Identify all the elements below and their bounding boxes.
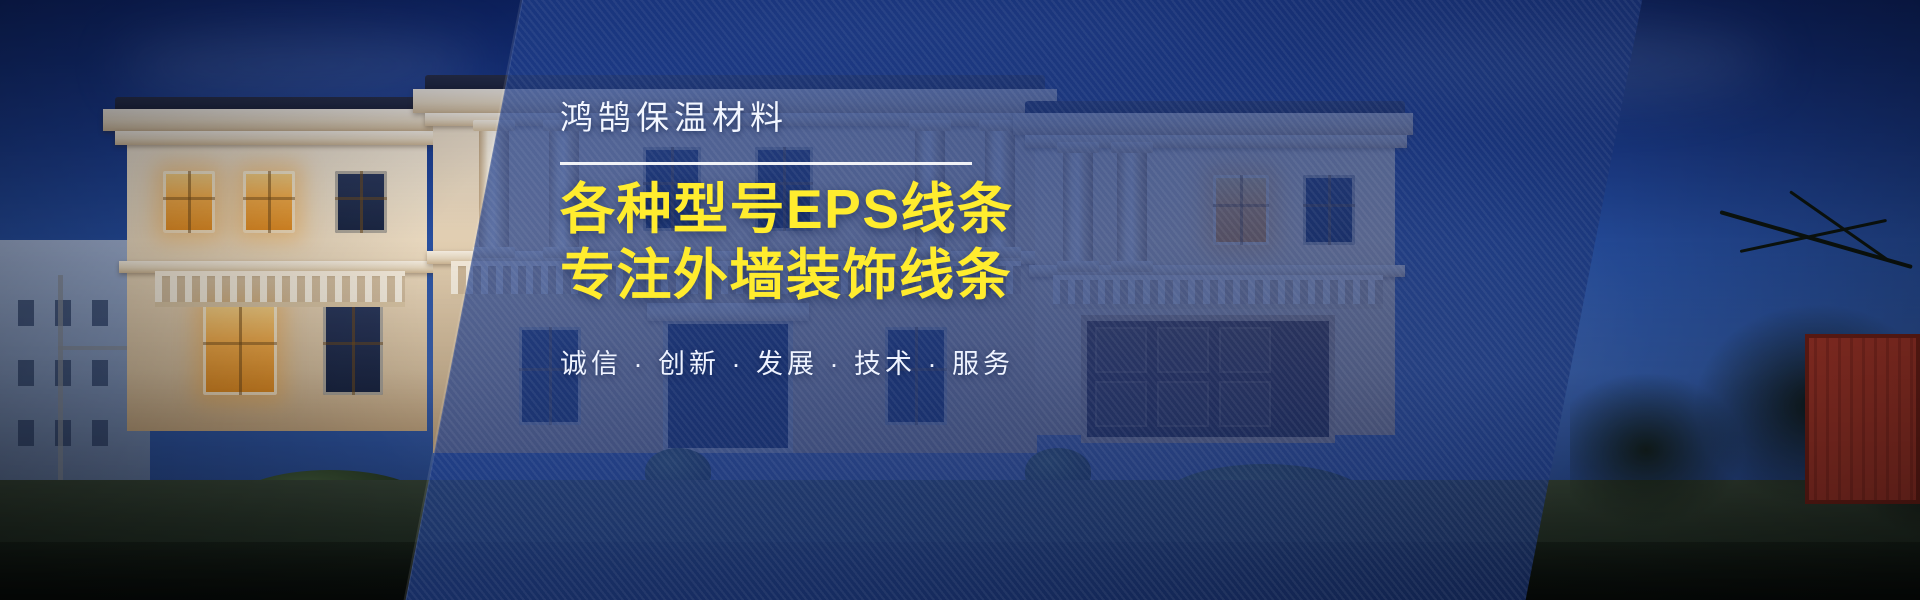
headline-line-2: 专注外墙装饰线条 <box>560 245 1080 307</box>
headline-line-1: 各种型号EPS线条 <box>560 179 1080 241</box>
tagline: 诚信 · 创新 · 发展 · 技术 · 服务 <box>560 342 1080 381</box>
banner-text-block: 鸿鹄保温材料 各种型号EPS线条 专注外墙装饰线条 诚信 · 创新 · 发展 ·… <box>560 100 1080 381</box>
promo-banner: 鸿鹄保温材料 各种型号EPS线条 专注外墙装饰线条 诚信 · 创新 · 发展 ·… <box>0 0 1920 600</box>
divider-rule <box>560 162 972 165</box>
brand-name: 鸿鹄保温材料 <box>560 100 1080 136</box>
